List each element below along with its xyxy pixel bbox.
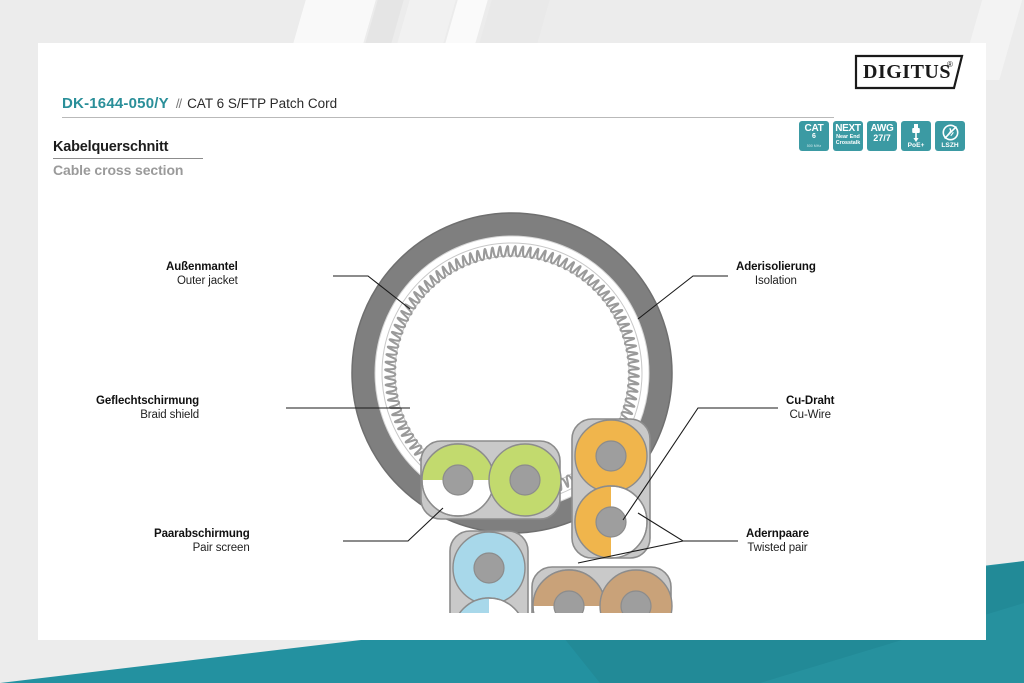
callout-isolation-en: Isolation: [736, 275, 816, 287]
callout-pair-screen: Paarabschirmung Pair screen: [154, 528, 250, 554]
callout-outer-jacket-en: Outer jacket: [166, 275, 238, 287]
orange-wire-solid: [575, 420, 647, 492]
green-wire-solid-core: [510, 465, 540, 495]
callout-isolation-de: Aderisolierung: [736, 261, 816, 273]
callout-cu-wire: Cu-Draht Cu-Wire: [786, 395, 834, 421]
callout-pair-screen-en: Pair screen: [154, 542, 250, 554]
section-title-de: Kabelquerschnitt: [53, 139, 168, 155]
blue-wire-solid: [453, 532, 525, 604]
section-divider: [53, 158, 203, 159]
next-badge: NEXT Near End Crosstalk: [833, 121, 863, 151]
callout-outer-jacket: Außenmantel Outer jacket: [166, 261, 238, 287]
next-badge-main: NEXT: [833, 124, 863, 134]
product-sku: DK-1644-050/Y: [62, 95, 169, 112]
blue-wire-solid-core: [474, 553, 504, 583]
feature-badges: CAT 6 500 MHz NEXT Near End Crosstalk AW…: [799, 121, 965, 151]
cat6-badge-sub: 6: [799, 134, 829, 141]
lszh-badge-label: LSZH: [935, 142, 965, 149]
awg-badge: AWG 27/7: [867, 121, 897, 151]
callout-cu-wire-en: Cu-Wire: [786, 409, 834, 421]
page-root: DIGITUS ® DK-1644-050/Y//CAT 6 S/FTP Pat…: [0, 0, 1024, 683]
green-wire-solid: [489, 444, 561, 516]
orange-wire-striped: [575, 486, 647, 558]
orange-wire-striped-core: [596, 507, 626, 537]
callout-braid-shield-de: Geflechtschirmung: [96, 395, 199, 407]
orange-pair-group: [572, 419, 650, 558]
callout-isolation: Aderisolierung Isolation: [736, 261, 816, 287]
awg-badge-sub: 27/7: [867, 135, 897, 142]
callout-twisted-pair-en: Twisted pair: [746, 542, 809, 554]
callout-braid-shield-en: Braid shield: [96, 409, 199, 421]
logo-registered-mark: ®: [947, 60, 953, 69]
callout-twisted-pair: Adernpaare Twisted pair: [746, 528, 809, 554]
product-name: CAT 6 S/FTP Patch Cord: [187, 96, 337, 111]
logo-wordmark: DIGITUS: [863, 61, 951, 84]
poe-plug-icon: [901, 124, 931, 142]
poe-badge-label: PoE+: [901, 142, 931, 149]
poe-badge: PoE+: [901, 121, 931, 151]
green-pair-group: [421, 441, 561, 519]
callout-cu-wire-de: Cu-Draht: [786, 395, 834, 407]
digitus-logo: DIGITUS ®: [854, 54, 964, 90]
brown-pair-group: [532, 567, 672, 613]
datasheet-sheet: DIGITUS ® DK-1644-050/Y//CAT 6 S/FTP Pat…: [38, 43, 986, 640]
green-wire-striped-core: [443, 465, 473, 495]
lszh-no-smoke-icon: [935, 124, 965, 141]
cable-cross-section-diagram: Außenmantel Outer jacket Geflechtschirmu…: [38, 173, 986, 613]
next-badge-line2: Crosstalk: [833, 140, 863, 146]
callout-pair-screen-de: Paarabschirmung: [154, 528, 250, 540]
title-divider: [62, 117, 834, 118]
product-title-row: DK-1644-050/Y//CAT 6 S/FTP Patch Cord: [62, 95, 962, 113]
blue-pair-group: [450, 531, 528, 613]
cat6-badge: CAT 6 500 MHz: [799, 121, 829, 151]
callout-twisted-pair-de: Adernpaare: [746, 528, 809, 540]
green-wire-striped: [422, 444, 494, 516]
lszh-badge: LSZH: [935, 121, 965, 151]
orange-wire-solid-core: [596, 441, 626, 471]
title-separator: //: [176, 96, 181, 111]
cat6-badge-caption: 500 MHz: [799, 144, 829, 148]
callout-braid-shield: Geflechtschirmung Braid shield: [96, 395, 199, 421]
callout-outer-jacket-de: Außenmantel: [166, 261, 238, 273]
